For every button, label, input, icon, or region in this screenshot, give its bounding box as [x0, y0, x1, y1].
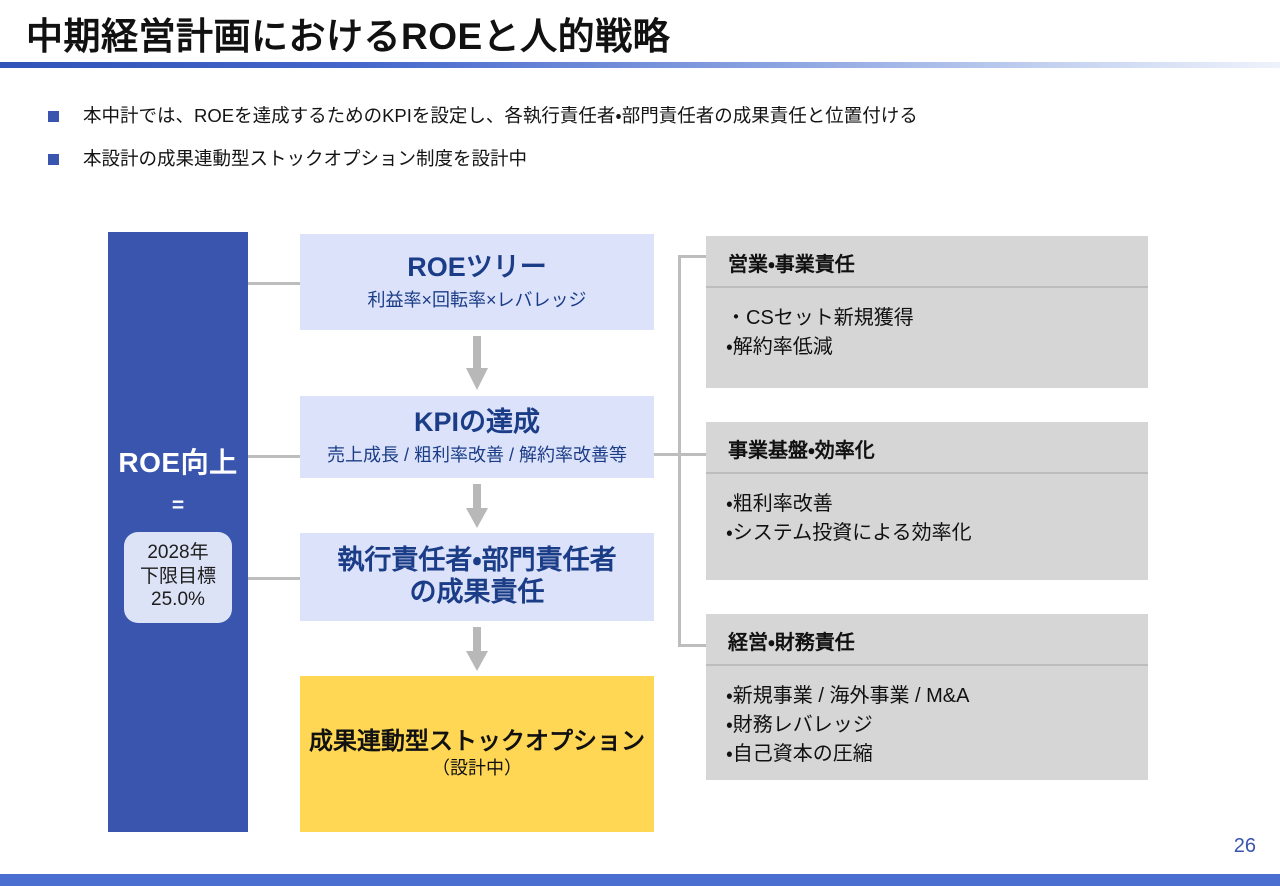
connector-pillar-to-roe-tree	[248, 282, 300, 285]
list-item: ・解約率低減	[726, 333, 1148, 362]
flow-box-title: 成果連動型ストックオプション	[309, 728, 645, 756]
bracket-arm-sales	[678, 255, 706, 258]
badge-line-year: 2028年	[140, 541, 216, 565]
responsibility-panel-foundation[interactable]: 事業基盤・効率化 ・粗利率改善 ・システム投資による効率化	[706, 422, 1148, 580]
connector-pillar-to-kpi	[248, 455, 300, 458]
roe-pillar: ROE向上 = 2028年 下限目標 25.0%	[108, 232, 248, 832]
connector-pillar-to-accountability	[248, 577, 300, 580]
connector-bracket-kpi-to-panels	[654, 255, 706, 647]
flow-box-subtitle: 利益率×回転率×レバレッジ	[367, 290, 586, 312]
panel-header: 経営・財務責任	[706, 614, 1148, 666]
responsibility-panel-finance[interactable]: 経営・財務責任 ・新規事業 / 海外事業 / M&A ・財務レバレッジ ・自己資…	[706, 614, 1148, 780]
panel-body: ・新規事業 / 海外事業 / M&A ・財務レバレッジ ・自己資本の圧縮	[706, 666, 1148, 769]
flow-box-title: 執行責任者・部門責任者 の成果責任	[337, 545, 616, 609]
flow-box-title: ROEツリー	[407, 252, 547, 284]
list-item: ・財務レバレッジ	[726, 711, 1148, 740]
roe-target-badge: 2028年 下限目標 25.0%	[124, 532, 232, 623]
footer-bar	[0, 874, 1280, 886]
down-arrow-icon	[466, 627, 488, 671]
list-item: ・システム投資による効率化	[726, 519, 1148, 548]
flow-box-subtitle: 売上成長 / 粗利率改善 / 解約率改善等	[327, 445, 627, 467]
pillar-title: ROE向上	[118, 441, 237, 481]
responsibility-panel-sales[interactable]: 営業・事業責任 ・CSセット新規獲得 ・解約率低減	[706, 236, 1148, 388]
flow-box-roe-tree[interactable]: ROEツリー 利益率×回転率×レバレッジ	[300, 234, 654, 330]
down-arrow-icon	[466, 336, 488, 390]
down-arrow-icon	[466, 484, 488, 528]
bracket-stem	[654, 453, 678, 456]
list-item: ・自己資本の圧縮	[726, 740, 1148, 769]
flow-box-kpi[interactable]: KPIの達成 売上成長 / 粗利率改善 / 解約率改善等	[300, 396, 654, 478]
panel-body: ・粗利率改善 ・システム投資による効率化	[706, 474, 1148, 548]
panel-body: ・CSセット新規獲得 ・解約率低減	[706, 288, 1148, 362]
roe-strategy-diagram: ROE向上 = 2028年 下限目標 25.0% ROEツリー 利益率×回転率×…	[0, 0, 1280, 886]
bracket-spine	[678, 255, 681, 647]
list-item: ・CSセット新規獲得	[726, 304, 1148, 333]
page-number: 26	[1234, 835, 1256, 858]
flow-box-subtitle: （設計中）	[432, 758, 522, 780]
badge-line-value: 25.0%	[140, 588, 216, 612]
bracket-arm-foundation	[678, 453, 706, 456]
bracket-arm-finance	[678, 644, 706, 647]
flow-box-stock-option[interactable]: 成果連動型ストックオプション （設計中）	[300, 676, 654, 832]
badge-line-label: 下限目標	[140, 565, 216, 589]
panel-header: 営業・事業責任	[706, 236, 1148, 288]
flow-box-title: KPIの達成	[414, 407, 540, 439]
list-item: ・新規事業 / 海外事業 / M&A	[726, 682, 1148, 711]
list-item: ・粗利率改善	[726, 490, 1148, 519]
panel-header: 事業基盤・効率化	[706, 422, 1148, 474]
equals-sign: =	[172, 495, 184, 516]
flow-box-accountability[interactable]: 執行責任者・部門責任者 の成果責任	[300, 533, 654, 621]
